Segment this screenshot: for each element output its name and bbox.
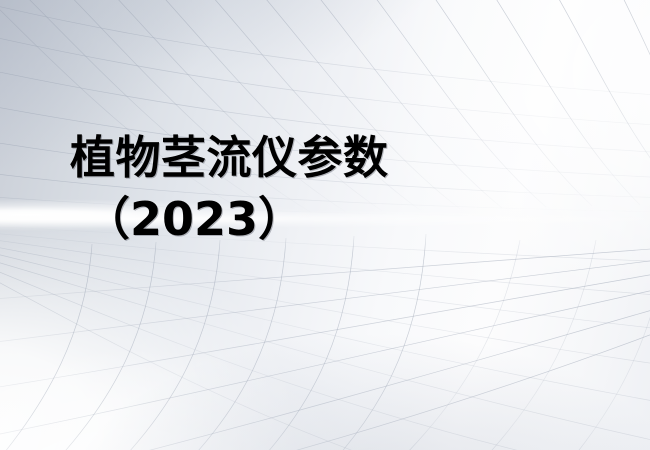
title-block: 植物茎流仪参数 （2023）	[70, 128, 590, 250]
page-subtitle-year: （2023）	[70, 188, 590, 250]
title-slide: 植物茎流仪参数 （2023）	[0, 0, 650, 450]
page-title: 植物茎流仪参数	[70, 128, 590, 188]
